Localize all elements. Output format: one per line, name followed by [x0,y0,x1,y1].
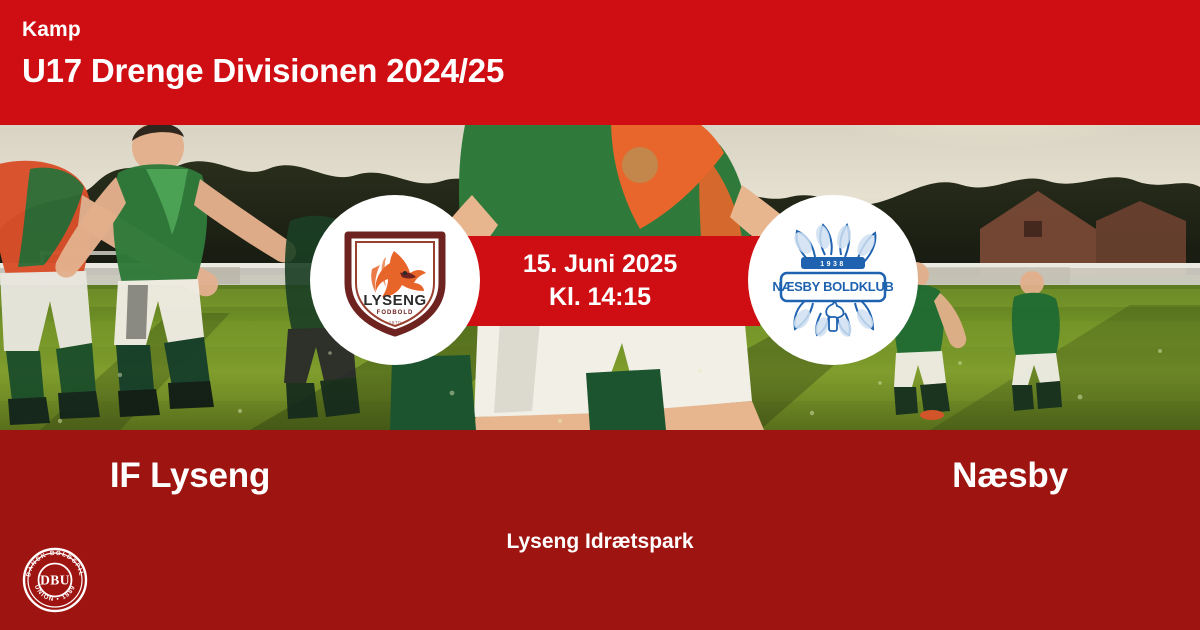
naesby-crest-icon: 1938 NÆSBY BOLDKLUB [773,221,893,339]
home-crest-wordmark: LYSENG [363,292,426,309]
page-title: U17 Drenge Divisionen 2024/25 [22,53,1200,89]
home-crest-founded: 1970 [389,320,401,325]
away-team-logo: 1938 NÆSBY BOLDKLUB [748,195,918,365]
match-time: Kl. 14:15 [549,281,651,314]
dbu-initials: DBU [40,573,70,588]
match-datetime-banner: 15. Juni 2025 Kl. 14:15 [440,236,760,326]
teams-row: IF Lyseng Næsby [0,456,1200,496]
header-band: Kamp U17 Drenge Divisionen 2024/25 [0,0,1200,125]
match-poster: Kamp U17 Drenge Divisionen 2024/25 [0,0,1200,630]
away-crest-wordmark: NÆSBY BOLDKLUB [773,279,893,294]
lyseng-crest-icon: LYSENG FODBOLD 1970 [336,221,454,339]
away-crest-founded: 1938 [820,261,846,268]
match-info-panel: IF Lyseng Næsby Lyseng Idrætspark [0,430,1200,630]
home-crest-subtext: FODBOLD [377,310,414,316]
match-date: 15. Juni 2025 [523,248,677,281]
away-team-name: Næsby [600,456,1200,496]
home-team-logo: LYSENG FODBOLD 1970 [310,195,480,365]
kamp-label: Kamp [22,18,1200,41]
dbu-seal-icon: DANSK BOLDSPIL UNION • 1889 DBU [20,545,90,615]
dbu-logo: DANSK BOLDSPIL UNION • 1889 DBU [20,545,90,615]
home-team-name: IF Lyseng [0,456,600,496]
venue-name: Lyseng Idrætspark [0,530,1200,554]
